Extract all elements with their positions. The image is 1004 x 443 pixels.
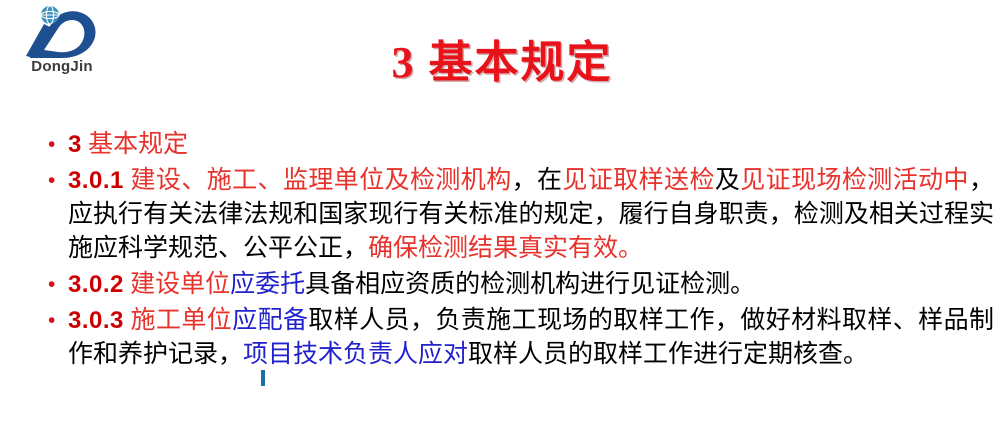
bullet-text-2: 3.0.2 建设单位应委托具备相应资质的检测机构进行见证检测。 <box>68 268 994 302</box>
bullet-marker: • <box>44 128 68 162</box>
bullet-item-1: • 3.0.1 建设、施工、监理单位及检测机构，在见证取样送检及见证现场检测活动… <box>44 164 994 266</box>
bullet-text-1: 3.0.1 建设、施工、监理单位及检测机构，在见证取样送检及见证现场检测活动中，… <box>68 164 994 266</box>
slide-title: 3 基本规定 <box>0 26 1004 90</box>
text-run-num: 3 <box>68 131 82 158</box>
bullet-marker: • <box>44 268 68 302</box>
text-run-blue: 应委托 <box>230 271 305 298</box>
bullet-text-0: 3 基本规定 <box>68 128 994 162</box>
text-run-red: 建设、施工、监理单位及检测机构 <box>124 167 512 194</box>
globe-icon <box>41 6 59 24</box>
text-run-num: 3.0.1 <box>68 167 124 194</box>
text-run-black: 具备相应资质的检测机构进行见证检测。 <box>305 271 755 298</box>
text-run-num: 3.0.2 <box>68 271 124 298</box>
text-run-num: 3.0.3 <box>68 307 124 334</box>
bullet-item-3: • 3.0.3 施工单位应配备取样人员，负责施工现场的取样工作，做好材料取样、样… <box>44 304 994 372</box>
bullet-item-0: • 3 基本规定 <box>44 128 994 162</box>
bullet-item-2: • 3.0.2 建设单位应委托具备相应资质的检测机构进行见证检测。 <box>44 268 994 302</box>
text-run-red: 见证取样送检 <box>562 167 714 194</box>
bullet-marker: • <box>44 304 68 338</box>
text-run-black: 及 <box>715 167 740 194</box>
text-run-blue: 项目技术负责人应对 <box>243 341 468 368</box>
slide-body: • 3 基本规定 • 3.0.1 建设、施工、监理单位及检测机构，在见证取样送检… <box>44 128 994 374</box>
text-run-red: 见证现场检测活动中 <box>740 167 969 194</box>
text-run-red: 确保检测结果真实有效。 <box>368 235 643 262</box>
text-run-red: 基本规定 <box>82 131 188 158</box>
text-run-black: ，在 <box>512 167 563 194</box>
bullet-marker: • <box>44 164 68 198</box>
text-run-blue: 应配备 <box>232 307 308 334</box>
text-caret <box>261 370 265 386</box>
text-run-red: 建设单位 <box>124 271 230 298</box>
bullet-text-3: 3.0.3 施工单位应配备取样人员，负责施工现场的取样工作，做好材料取样、样品制… <box>68 304 994 372</box>
text-run-black: 取样人员的取样工作进行定期核查。 <box>468 341 868 368</box>
text-run-red: 施工单位 <box>124 307 232 334</box>
